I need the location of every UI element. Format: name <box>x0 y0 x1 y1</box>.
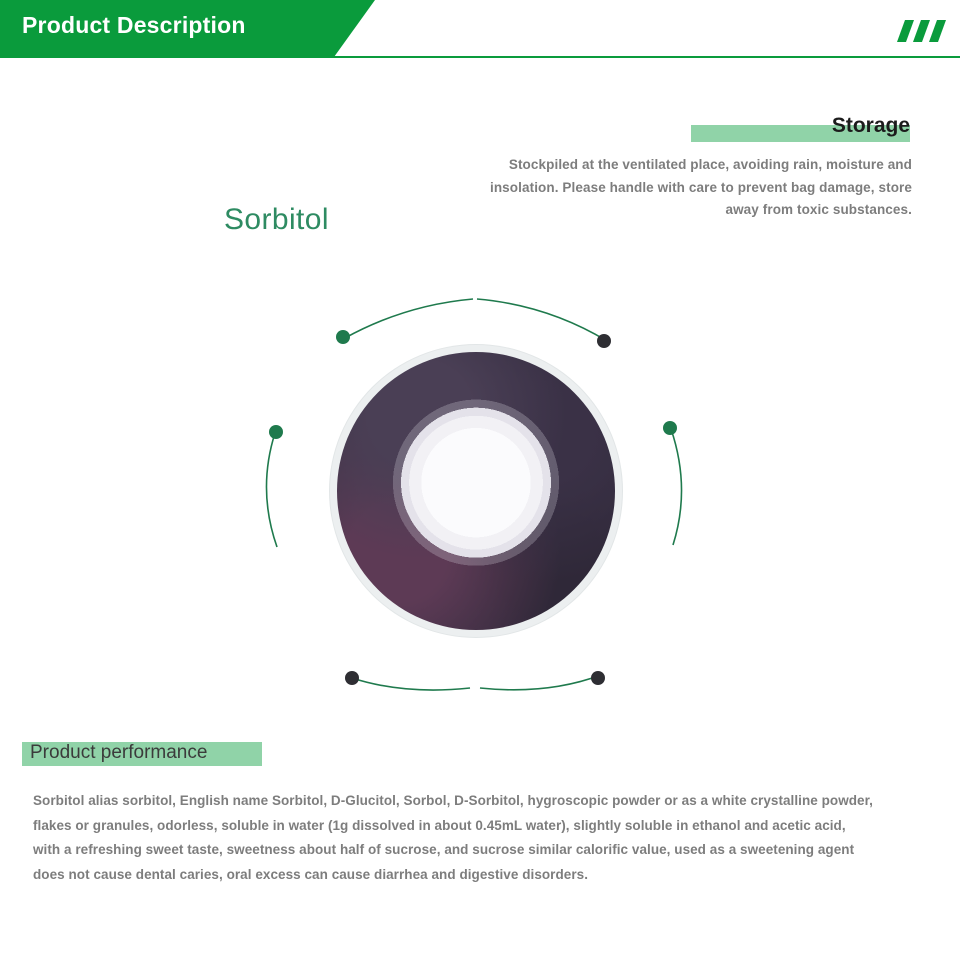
storage-heading: Storage <box>832 112 910 140</box>
page-title: Product Description <box>22 12 246 39</box>
performance-heading: Product performance <box>30 739 207 767</box>
header-divider-rule <box>0 56 960 58</box>
performance-body-text: Sorbitol alias sorbitol, English name So… <box>33 789 873 887</box>
slash-decoration-group <box>901 20 942 42</box>
storage-body-text: Stockpiled at the ventilated place, avoi… <box>470 154 912 222</box>
product-name-heading: Sorbitol <box>224 203 329 237</box>
arc-dot-bottom-right <box>591 671 605 685</box>
arc-dot-right <box>663 421 677 435</box>
product-photo <box>337 352 615 630</box>
slash-icon <box>913 20 930 42</box>
storage-section: Storage Stockpiled at the ventilated pla… <box>470 112 912 222</box>
arc-dot-top-right <box>597 334 611 348</box>
arc-dot-bottom-left <box>345 671 359 685</box>
performance-heading-wrap: Product performance <box>22 738 322 770</box>
slash-icon <box>897 20 914 42</box>
sorbitol-granules <box>378 387 574 583</box>
arc-dot-left <box>269 425 283 439</box>
storage-heading-wrap: Storage <box>470 112 912 146</box>
product-image-stage <box>255 285 695 695</box>
arc-dot-top-left <box>336 330 350 344</box>
page-header: Product Description <box>0 0 960 58</box>
slash-icon <box>929 20 946 42</box>
